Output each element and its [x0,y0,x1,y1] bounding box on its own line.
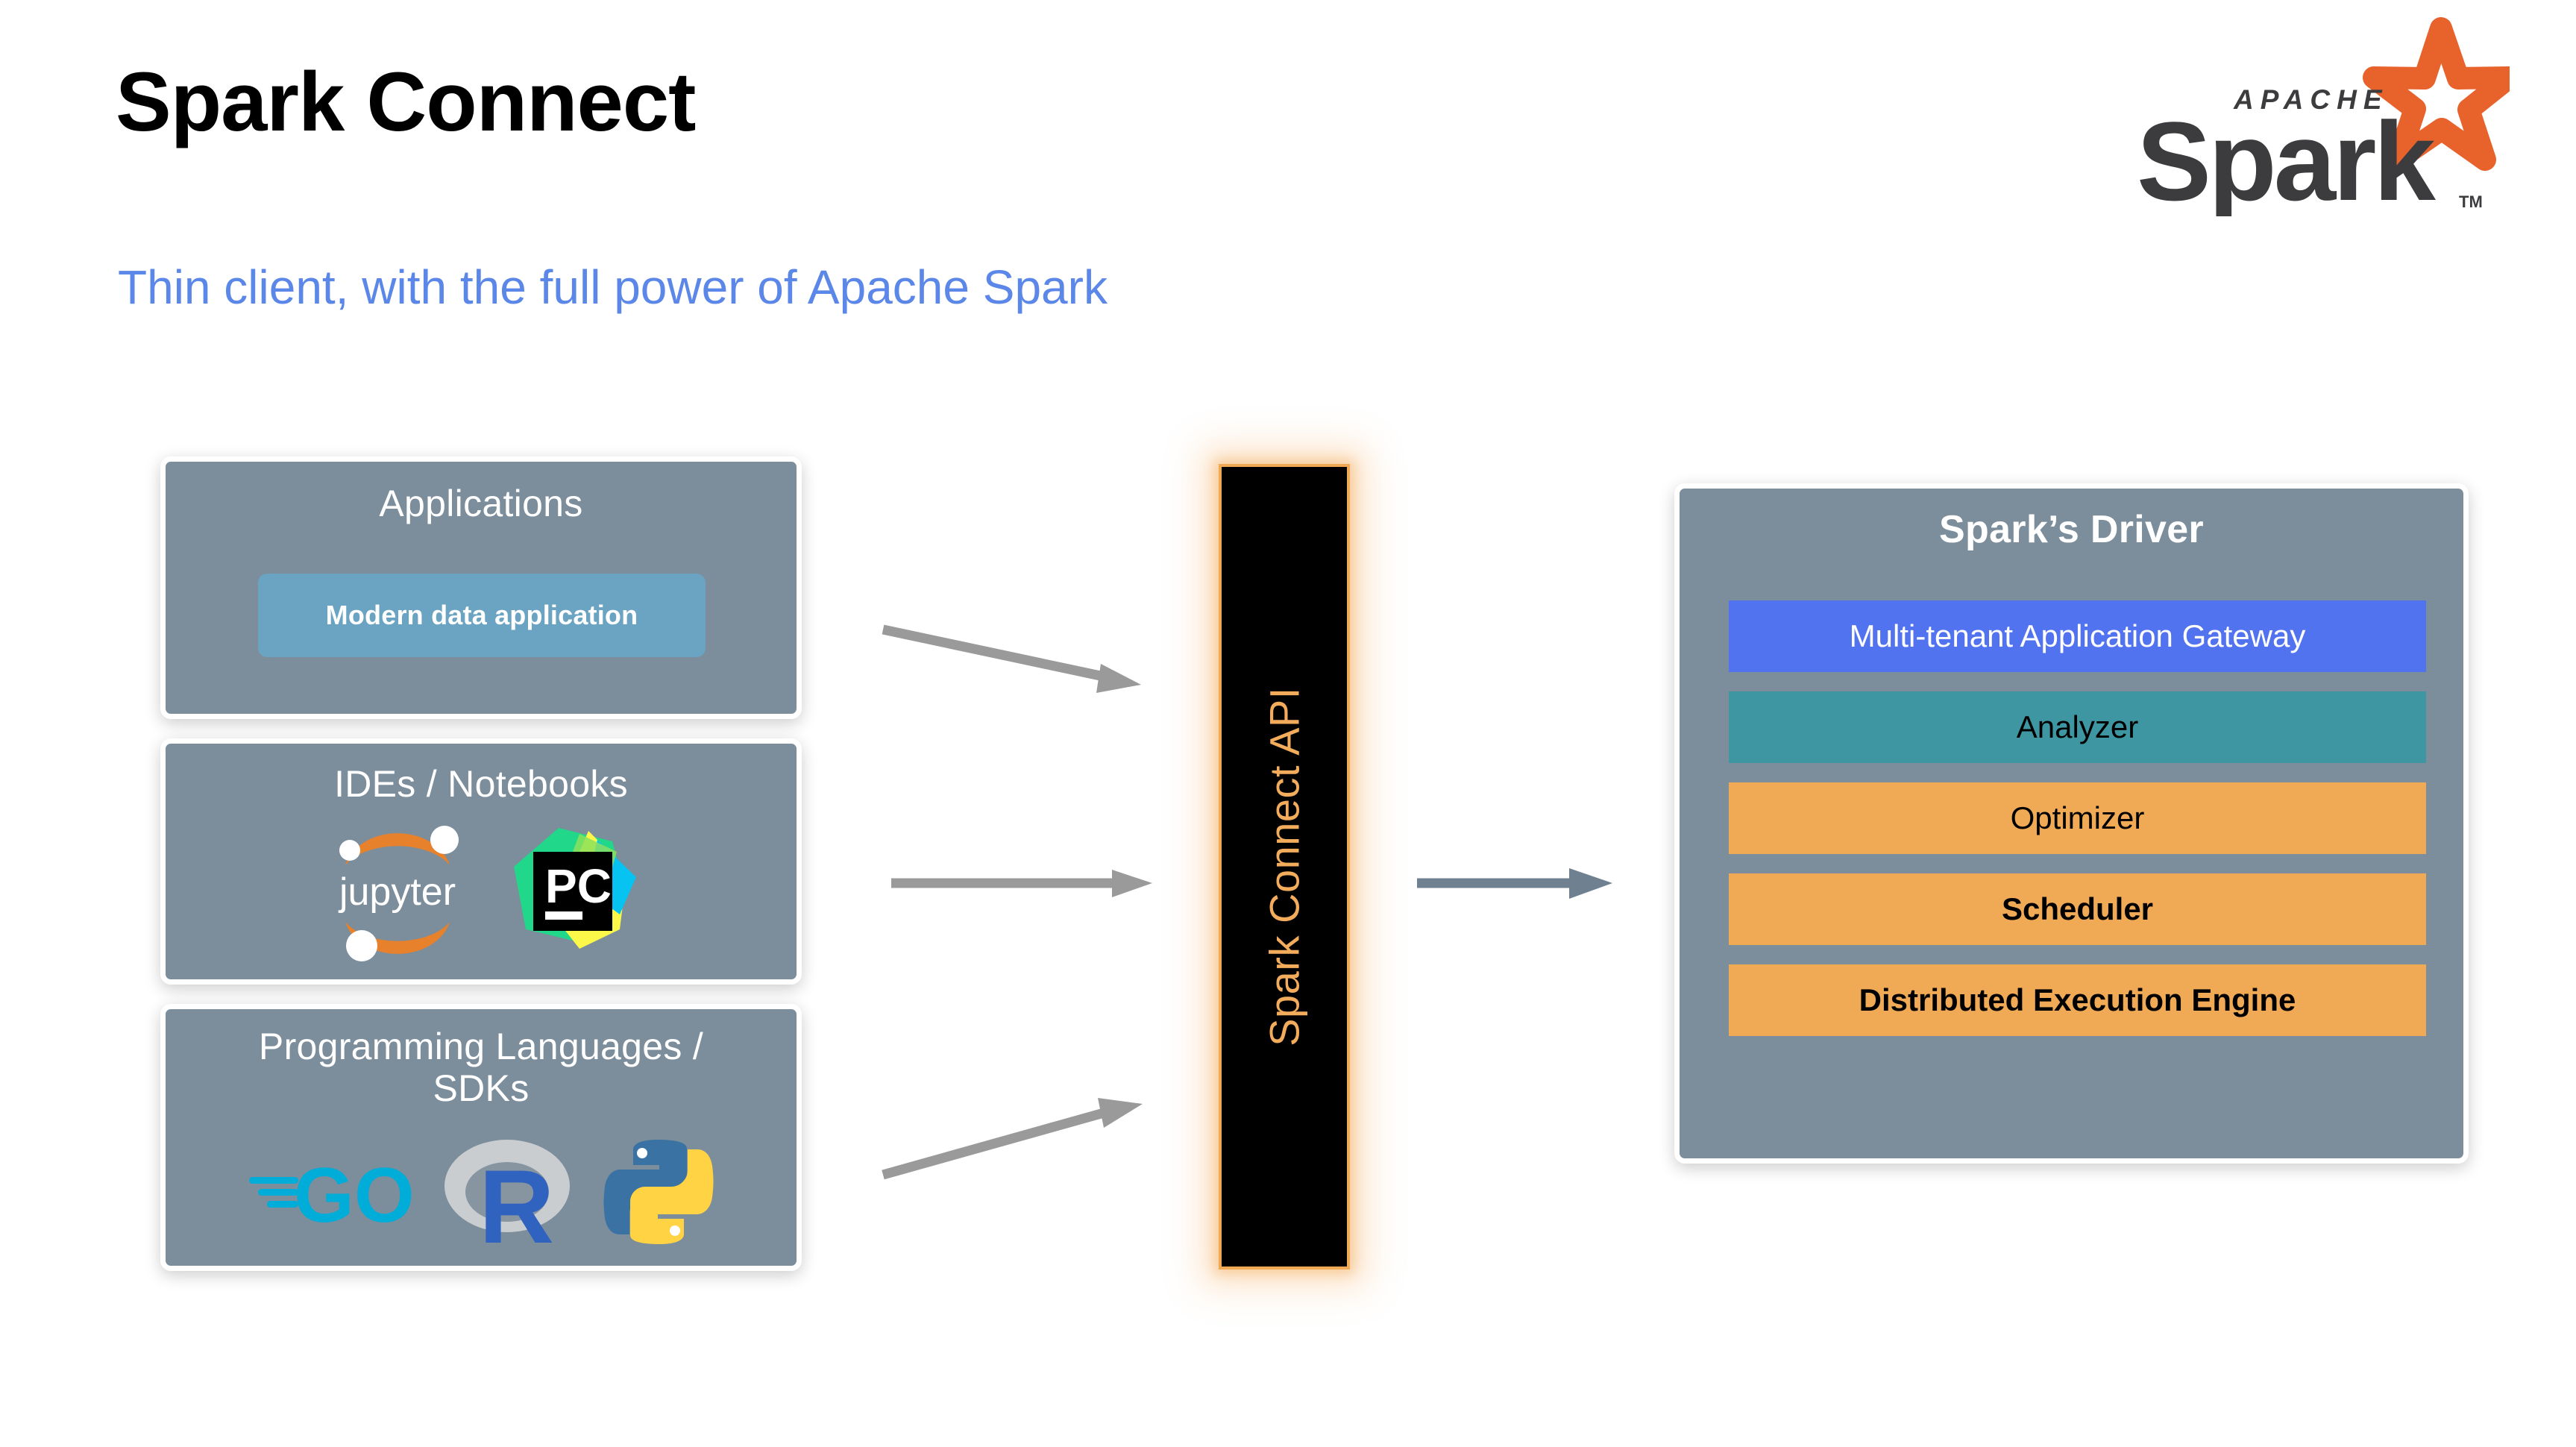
spark-wordmark: Spark [2137,98,2436,216]
go-wordmark: GO [294,1152,412,1237]
pycharm-logo: PC [508,825,639,960]
panel-ides-notebooks[interactable]: IDEs / Notebooks jupyter [160,738,802,985]
spark-connect-api-label: Spark Connect API [1260,687,1309,1046]
r-letter: R [479,1148,554,1252]
driver-row-distributed-execution-engine[interactable]: Distributed Execution Engine [1729,964,2426,1036]
go-logo: GO [248,1147,412,1240]
arrow-languages-to-api [880,1082,1193,1186]
languages-title-line1: Programming Languages / [259,1026,703,1067]
panel-spark-driver[interactable]: Spark’s Driver Multi-tenant Application … [1674,483,2469,1164]
driver-row-analyzer[interactable]: Analyzer [1729,691,2426,763]
page-title: Spark Connect [116,58,695,146]
python-logo [603,1135,714,1252]
applications-title: Applications [166,483,797,524]
ides-logo-row: jupyter PC [166,817,797,967]
r-logo: R [440,1132,574,1255]
driver-row-list: Multi-tenant Application Gateway Analyze… [1729,600,2426,1055]
modern-data-application-card[interactable]: Modern data application [258,574,706,657]
ides-notebooks-title: IDEs / Notebooks [166,763,797,805]
languages-title-line2: SDKs [433,1067,529,1109]
page-subtitle: Thin client, with the full power of Apac… [118,261,1108,313]
panel-programming-languages[interactable]: Programming Languages / SDKs GO [160,1004,802,1271]
slide-canvas: Spark Connect Thin client, with the full… [0,0,2576,1447]
languages-logo-row: GO R [166,1132,797,1255]
panel-applications[interactable]: Applications Modern data application [160,456,802,719]
apache-spark-logo: APACHE Spark TM [2122,15,2510,216]
trademark-mark: TM [2459,192,2483,211]
driver-row-optimizer[interactable]: Optimizer [1729,782,2426,854]
arrow-api-to-driver [1417,865,1641,925]
driver-row-scheduler[interactable]: Scheduler [1729,873,2426,945]
arrow-applications-to-api [880,619,1193,723]
spark-driver-title: Spark’s Driver [1680,508,2463,551]
jupyter-logo: jupyter [323,817,472,967]
driver-row-gateway[interactable]: Multi-tenant Application Gateway [1729,600,2426,672]
pycharm-pc-text: PC [545,859,612,913]
jupyter-wordmark: jupyter [338,870,456,914]
programming-languages-title: Programming Languages / SDKs [166,1026,797,1109]
spark-connect-api-bar[interactable]: Spark Connect API [1219,464,1350,1269]
arrow-ides-to-api [891,865,1190,925]
